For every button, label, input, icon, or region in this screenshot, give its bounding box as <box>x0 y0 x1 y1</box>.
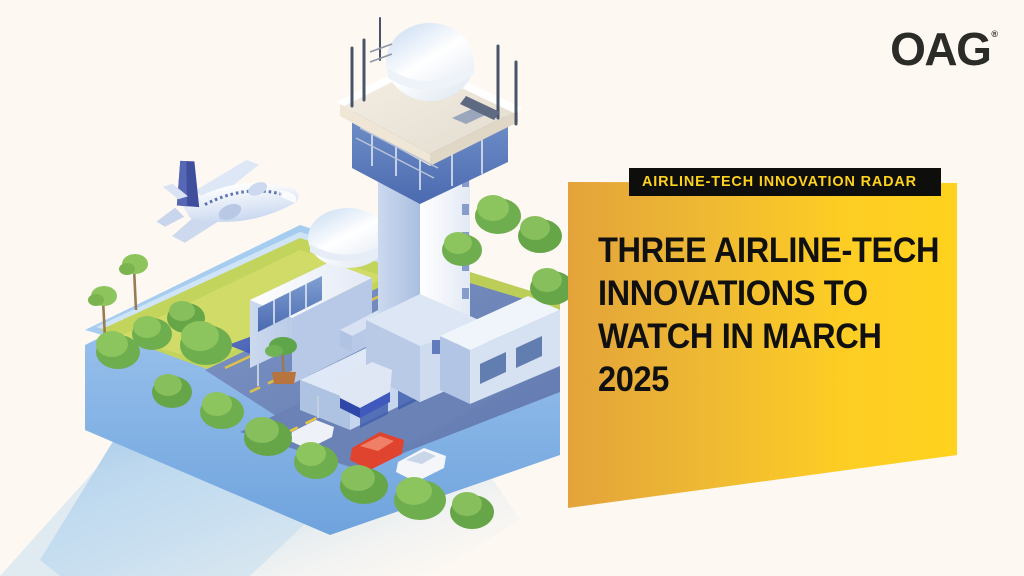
headline-line-3: WATCH IN MARCH <box>598 315 924 358</box>
airliner <box>150 149 302 246</box>
registered-trademark-icon: ® <box>991 30 998 39</box>
eyebrow-label: AIRLINE-TECH INNOVATION RADAR <box>642 174 917 189</box>
page-title: THREE AIRLINE-TECH INNOVATIONS TO WATCH … <box>598 229 948 401</box>
eyebrow-badge: AIRLINE-TECH INNOVATION RADAR <box>629 168 941 196</box>
oag-logo[interactable]: OAG ® <box>890 26 998 72</box>
headline-line-2: INNOVATIONS TO <box>598 272 924 315</box>
headline-line-4: 2025 <box>598 358 924 401</box>
poster-canvas: AIRLINE-TECH INNOVATION RADAR THREE AIRL… <box>0 0 1024 576</box>
headline-line-1: THREE AIRLINE-TECH <box>598 229 924 272</box>
logo-wordmark: OAG <box>890 26 990 72</box>
